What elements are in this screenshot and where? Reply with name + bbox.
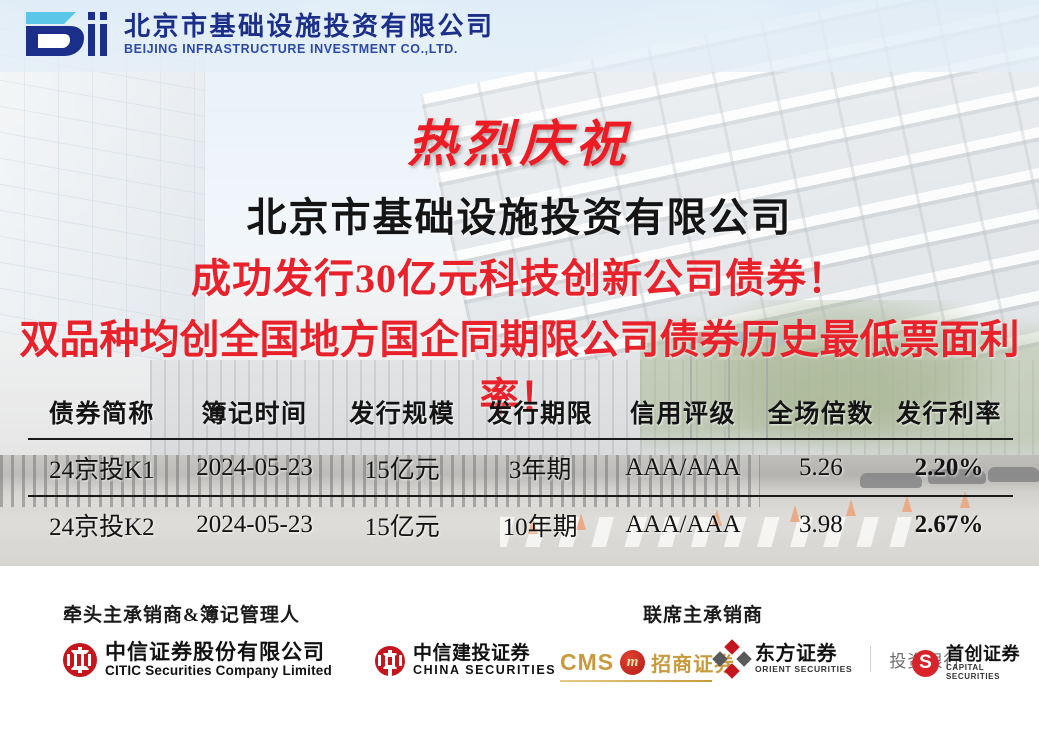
column-header-book-date: 簿记时间 [176,392,334,439]
headline-line-3: 成功发行30亿元科技创新公司债券！ [0,246,1039,304]
logo-divider [870,646,871,672]
logo-capital-en: CAPITAL SECURITIES [946,664,1039,682]
company-name-cn: 北京市基础设施投资有限公司 [124,11,495,41]
column-header-size: 发行规模 [333,392,471,439]
column-header-rate: 发行利率 [885,392,1013,439]
bond-table: 债券简称 簿记时间 发行规模 发行期限 信用评级 全场倍数 发行利率 24京投K… [28,392,1013,552]
column-header-multiple: 全场倍数 [757,392,885,439]
cell-rating: AAA/AAA [609,439,757,496]
cell-tenor: 10年期 [471,496,609,552]
joint-underwriter-label: 联席主承销商 [643,600,763,627]
logo-orient-cn: 东方证券 [755,644,852,665]
orient-diamond-icon [712,639,752,679]
company-name-en: BEIJING INFRASTRUCTURE INVESTMENT CO.,LT… [124,41,495,57]
column-header-tenor: 发行期限 [471,392,609,439]
cell-multiple: 3.98 [757,496,885,552]
table-header-row: 债券简称 簿记时间 发行规模 发行期限 信用评级 全场倍数 发行利率 [28,392,1013,439]
table-row: 24京投K1 2024-05-23 15亿元 3年期 AAA/AAA 5.26 … [28,439,1013,496]
cell-rate: 2.67% [885,496,1013,552]
logo-china-securities: 中信建投证券 CHINA SECURITIES [375,644,556,678]
cell-tenor: 3年期 [471,439,609,496]
logo-china-merchants-securities: CMS 招商证券 [560,648,735,677]
cell-book-date: 2024-05-23 [176,439,334,496]
column-header-bond-name: 债券简称 [28,392,176,439]
cell-bond-name: 24京投K1 [28,439,176,496]
cell-bond-name: 24京投K2 [28,496,176,552]
logo-capital-cn: 首创证券 [946,645,1039,664]
underwriter-logos: 中信证券股份有限公司 CITIC Securities Company Limi… [0,642,1039,702]
cell-size: 15亿元 [333,439,471,496]
celebration-poster: 北京市基础设施投资有限公司 BEIJING INFRASTRUCTURE INV… [0,0,1039,737]
cell-size: 15亿元 [333,496,471,552]
cms-underline [560,680,712,682]
capital-s-emblem-icon [912,650,939,677]
china-securities-emblem-icon [375,646,405,676]
logo-orient-en: ORIENT SECURITIES [755,665,852,674]
cell-rate: 2.20% [885,439,1013,496]
table-row: 24京投K2 2024-05-23 15亿元 10年期 AAA/AAA 3.98… [28,496,1013,552]
bii-logo-icon [24,8,110,60]
logo-citic-securities: 中信证券股份有限公司 CITIC Securities Company Limi… [63,642,332,679]
headline-line-1: 热烈庆祝 [0,104,1039,176]
logo-citic-cn: 中信证券股份有限公司 [105,642,332,664]
cms-emblem-icon [620,650,645,675]
citic-emblem-icon [63,643,97,677]
logo-capital-securities: 首创证券 CAPITAL SECURITIES [912,645,1039,681]
cell-book-date: 2024-05-23 [176,496,334,552]
poster-footer: 牵头主承销商&簿记管理人 联席主承销商 中信证券股份有限公司 CITIC Sec… [0,566,1039,737]
logo-cms-en: CMS [560,649,614,676]
poster-header: 北京市基础设施投资有限公司 BEIJING INFRASTRUCTURE INV… [0,0,1039,72]
company-logo: 北京市基础设施投资有限公司 BEIJING INFRASTRUCTURE INV… [24,8,495,60]
logo-citic-en: CITIC Securities Company Limited [105,664,332,679]
lead-underwriter-label: 牵头主承销商&簿记管理人 [63,600,300,627]
cell-rating: AAA/AAA [609,496,757,552]
logo-china-cn: 中信建投证券 [413,644,556,664]
headline-line-2: 北京市基础设施投资有限公司 [0,185,1039,243]
logo-china-en: CHINA SECURITIES [413,664,556,678]
cell-multiple: 5.26 [757,439,885,496]
column-header-rating: 信用评级 [609,392,757,439]
